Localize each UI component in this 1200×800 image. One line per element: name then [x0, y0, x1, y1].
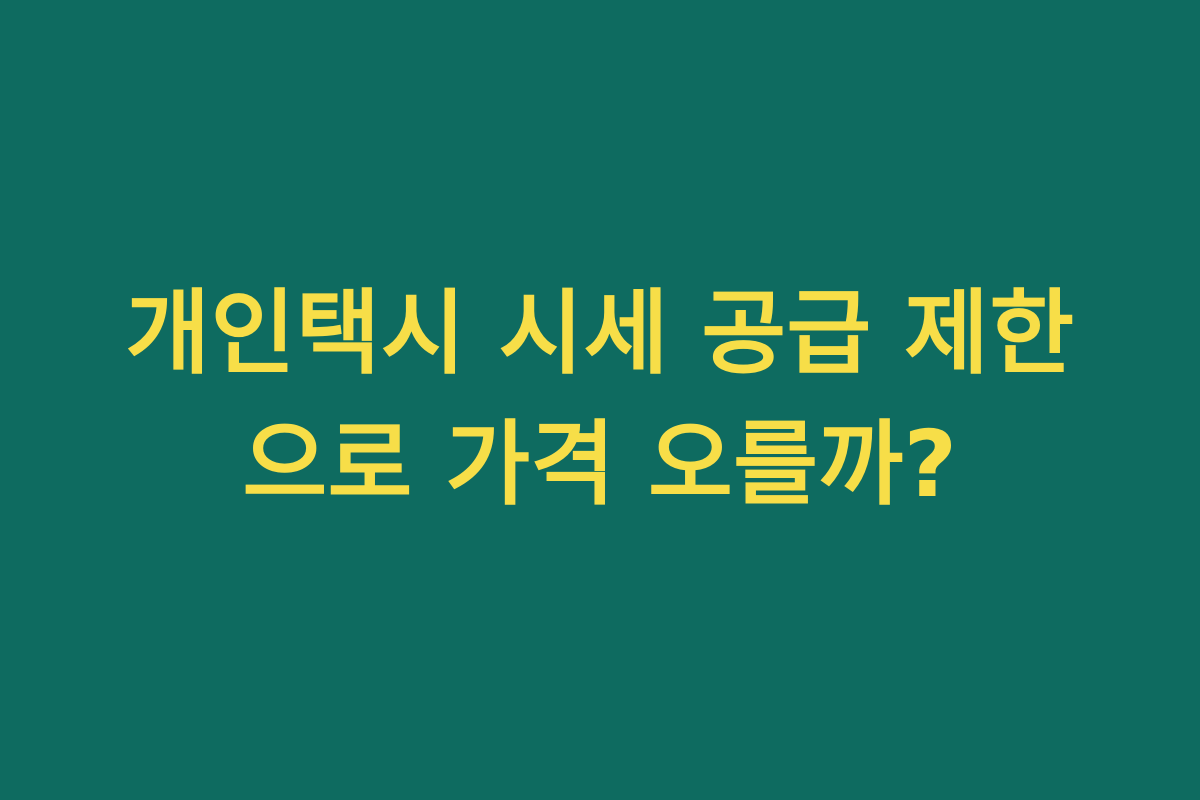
page-title: 개인택시 시세 공급 제한 으로 가격 오를까? [50, 269, 1150, 530]
headline-line-1: 개인택시 시세 공급 제한 [50, 269, 1150, 400]
title-card: 개인택시 시세 공급 제한 으로 가격 오를까? [0, 0, 1200, 800]
headline-line-2: 으로 가격 오를까? [50, 400, 1150, 531]
